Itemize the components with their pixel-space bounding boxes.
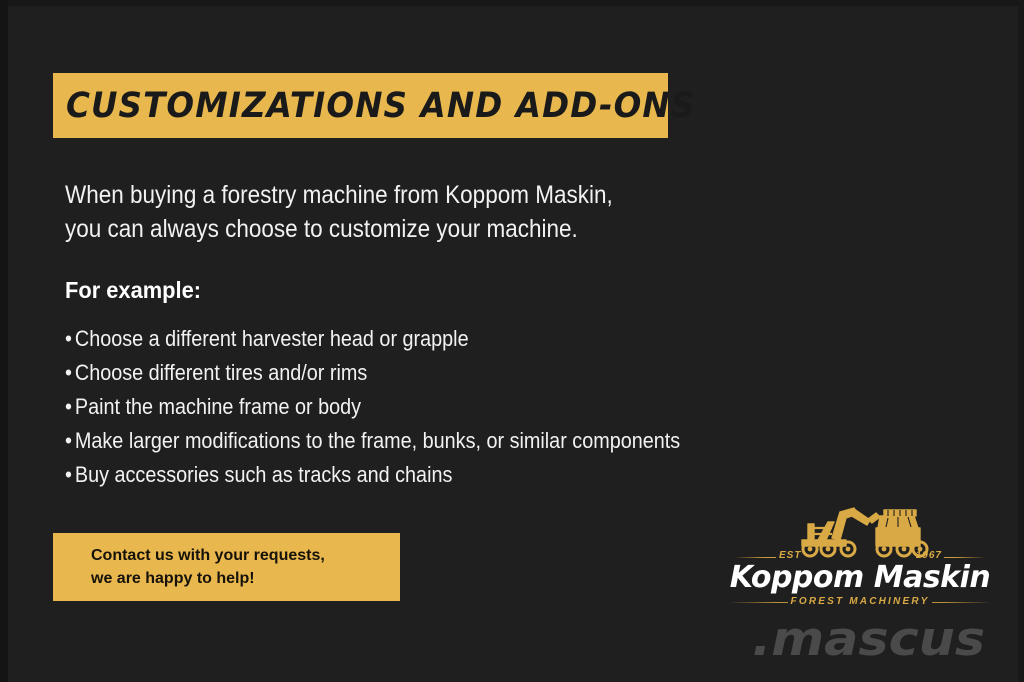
- logo-tagline-rule-right: [932, 602, 992, 603]
- frame-edge-top: [0, 0, 1024, 6]
- frame-edge-left: [0, 0, 8, 682]
- contact-cta-line-2: we are happy to help!: [91, 567, 400, 590]
- list-item: •Paint the machine frame or body: [65, 390, 749, 424]
- intro-line-2: you can always choose to customize your …: [65, 212, 713, 246]
- list-item-label: Choose different tires and/or rims: [75, 360, 367, 385]
- frame-edge-right: [1018, 0, 1024, 682]
- intro-paragraph: When buying a forestry machine from Kopp…: [65, 178, 713, 246]
- for-example-label: For example:: [65, 277, 201, 304]
- logo-rule-right: [944, 557, 986, 558]
- forestry-forwarder-icon: [788, 498, 936, 558]
- list-item-label: Make larger modifications to the frame, …: [75, 428, 680, 453]
- list-item: •Make larger modifications to the frame,…: [65, 424, 749, 458]
- bullet-icon: •: [65, 424, 75, 458]
- list-item-label: Paint the machine frame or body: [75, 394, 361, 419]
- intro-line-1: When buying a forestry machine from Kopp…: [65, 178, 713, 212]
- list-item-label: Buy accessories such as tracks and chain…: [75, 462, 452, 487]
- bullet-icon: •: [65, 356, 75, 390]
- contact-cta-box[interactable]: Contact us with your requests, we are ha…: [53, 533, 400, 601]
- page-title: CUSTOMIZATIONS AND ADD-ONS: [66, 86, 695, 126]
- list-item: •Choose different tires and/or rims: [65, 356, 749, 390]
- list-item-label: Choose a different harvester head or gra…: [75, 326, 469, 351]
- list-item: •Choose a different harvester head or gr…: [65, 322, 749, 356]
- bullet-icon: •: [65, 458, 75, 492]
- promo-slide: CUSTOMIZATIONS AND ADD-ONS When buying a…: [0, 0, 1024, 682]
- logo-wordmark: Koppom Maskin: [726, 560, 994, 595]
- bullet-icon: •: [65, 390, 75, 424]
- customization-list: •Choose a different harvester head or gr…: [65, 322, 749, 492]
- koppom-maskin-logo: EST 1967 Koppom Maskin FOREST MACHINERY: [726, 498, 994, 610]
- list-item: •Buy accessories such as tracks and chai…: [65, 458, 749, 492]
- title-banner: CUSTOMIZATIONS AND ADD-ONS: [53, 73, 668, 138]
- mascus-watermark: .mascus: [752, 612, 985, 667]
- logo-tagline-row: FOREST MACHINERY: [726, 596, 994, 608]
- contact-cta-line-1: Contact us with your requests,: [91, 544, 400, 567]
- bullet-icon: •: [65, 322, 75, 356]
- logo-rule-left: [734, 557, 776, 558]
